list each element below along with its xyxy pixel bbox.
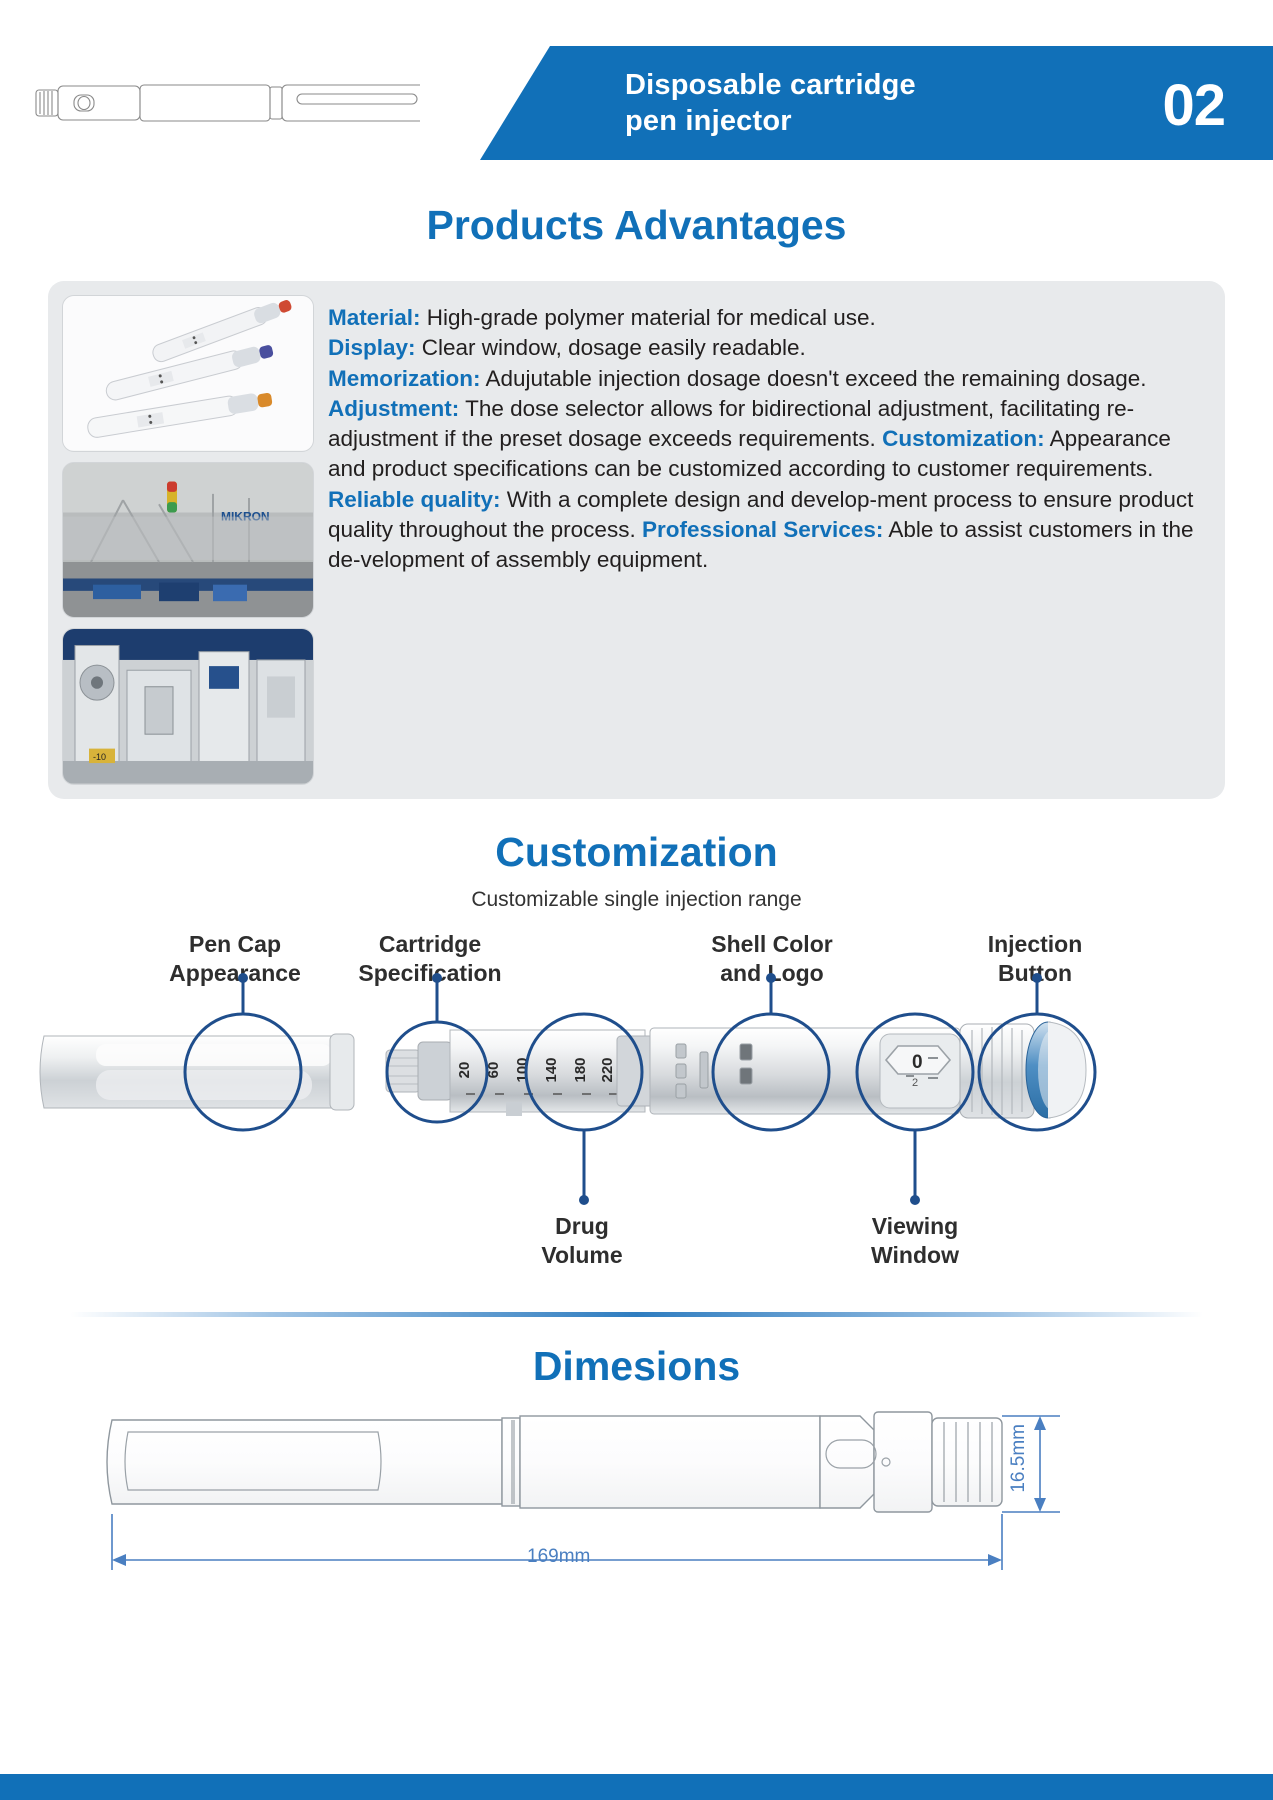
dimension-height-label: 16.5mm — [1008, 1424, 1030, 1493]
advantage-text-display: Clear window, dosage easily readable. — [416, 335, 806, 360]
advantage-label-material: Material: — [328, 305, 421, 330]
dimension-length-label: 169mm — [527, 1546, 590, 1568]
dose-tick-220: 220 — [599, 1057, 616, 1082]
header-banner: Disposable cartridge pen injector 02 — [480, 46, 1273, 160]
advantages-title: Products Advantages — [0, 202, 1273, 249]
dose-tick-180: 180 — [572, 1057, 589, 1082]
advantages-photo-column: MIKRON -10 — [62, 295, 314, 785]
svg-text:-10: -10 — [93, 752, 106, 762]
advantage-label-customization: Customization: — [882, 426, 1045, 451]
advantage-label-adjustment: Adjustment: — [328, 396, 459, 421]
advantage-label-professional-services: Professional Services: — [642, 517, 883, 542]
pen-exploded-diagram: 20 60 100 140 180 220 260 0 — [0, 918, 1273, 1308]
section-divider — [70, 1312, 1203, 1317]
viewing-window-value: 0 — [912, 1052, 923, 1073]
page-header: Disposable cartridge pen injector 02 — [0, 0, 1273, 160]
advantage-label-display: Display: — [328, 335, 416, 360]
dimensions-diagram: 169mm 16.5mm — [0, 1402, 1273, 1662]
footer-bar — [0, 1774, 1273, 1800]
dose-tick-140: 140 — [543, 1057, 560, 1082]
customization-diagram: Pen Cap Appearance Cartridge Specificati… — [0, 918, 1273, 1308]
dose-tick-20: 20 — [456, 1062, 473, 1079]
pen-injector-outline-icon — [30, 78, 420, 128]
customization-title: Customization — [0, 829, 1273, 876]
advantage-label-reliable-quality: Reliable quality: — [328, 487, 501, 512]
assembly-machine-photo: MIKRON — [62, 462, 314, 619]
section-number: 02 — [1162, 72, 1225, 139]
dimensions-title: Dimesions — [0, 1343, 1273, 1390]
product-pens-photo — [62, 295, 314, 452]
svg-text:2: 2 — [912, 1077, 918, 1089]
advantages-card: MIKRON -10 Materi — [48, 281, 1225, 799]
production-equipment-photo: -10 — [62, 628, 314, 785]
customization-subtitle: Customizable single injection range — [0, 888, 1273, 912]
advantages-text: Material: High-grade polymer material fo… — [328, 295, 1211, 785]
advantage-text-memorization: Adujutable injection dosage doesn't exce… — [481, 366, 1147, 391]
advantage-text-material: High-grade polymer material for medical … — [421, 305, 876, 330]
advantage-label-memorization: Memorization: — [328, 366, 481, 391]
banner-title: Disposable cartridge pen injector — [625, 67, 916, 140]
